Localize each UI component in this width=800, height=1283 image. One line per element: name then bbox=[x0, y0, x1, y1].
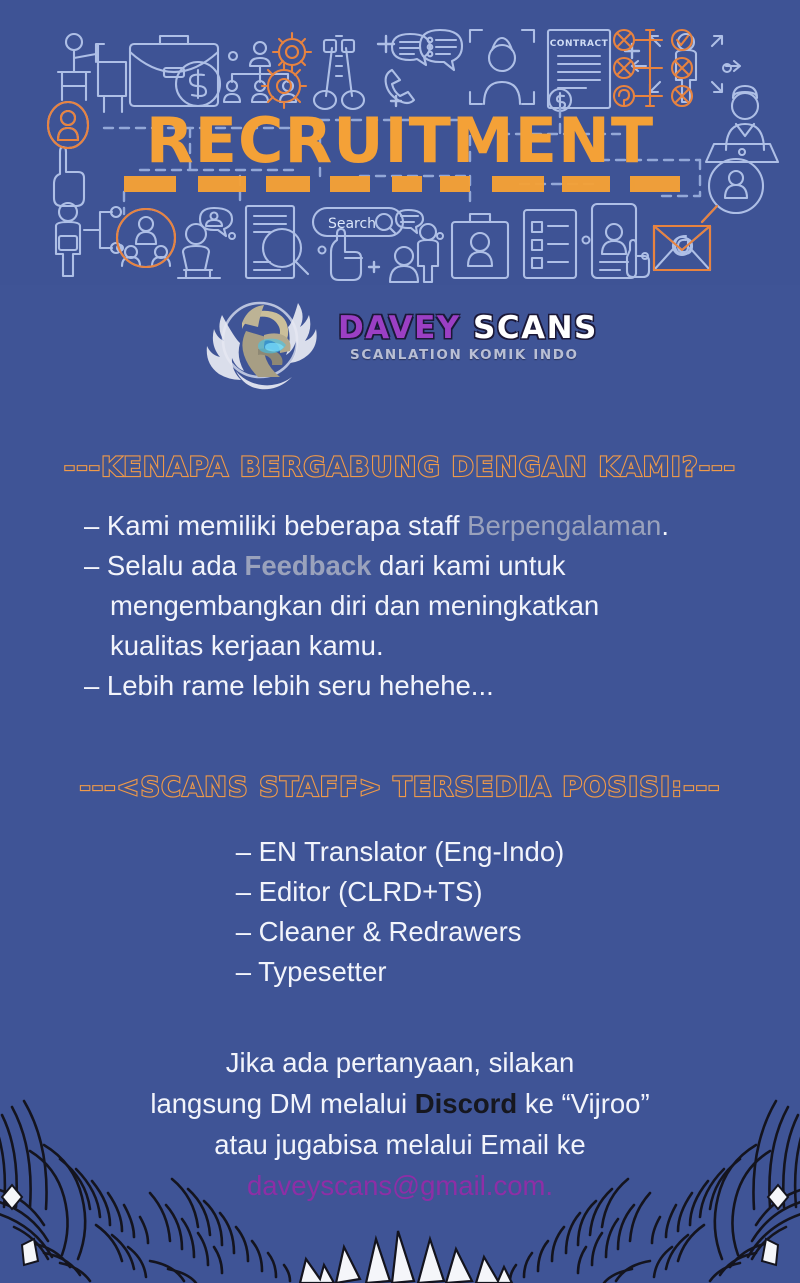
why-item-2-line2: mengembangkan diri dan meningkatkan bbox=[84, 586, 774, 626]
contact-line-1: Jika ada pertanyaan, silakan bbox=[0, 1042, 800, 1083]
why-item-1-text: – Kami memiliki beberapa staff bbox=[84, 510, 467, 541]
position-item: – Typesetter bbox=[236, 952, 565, 992]
id-card-icon bbox=[452, 214, 508, 278]
why-item-2-line3: kualitas kerjaan kamu. bbox=[84, 626, 774, 666]
person-at-desk-icon bbox=[58, 34, 126, 112]
envelope-accent-icon bbox=[654, 226, 710, 270]
why-item-3: – Lebih rame lebih seru hehehe... bbox=[84, 666, 774, 706]
position-item: – Cleaner & Redrawers bbox=[236, 912, 565, 952]
brand-logo: DAVEY SCANS SCANLATION KOMIK INDO bbox=[0, 293, 800, 393]
helmet-shape bbox=[242, 305, 291, 377]
logo-name-primary: DAVEY bbox=[338, 310, 461, 346]
manga-line-art-border bbox=[0, 1093, 800, 1283]
checklist-icon bbox=[524, 210, 576, 278]
decor-right-fan bbox=[510, 1101, 800, 1283]
spartan-helmet-emblem bbox=[202, 295, 342, 391]
bottom-decoration bbox=[0, 1093, 800, 1283]
decor-left-fan bbox=[0, 1101, 290, 1283]
why-item-1: – Kami memiliki beberapa staff Berpengal… bbox=[84, 506, 774, 546]
why-item-1-suffix: . bbox=[661, 510, 669, 541]
why-item-2-suffix: dari kami untuk bbox=[371, 550, 565, 581]
portrait-frame-icon bbox=[470, 30, 534, 104]
dollar-coin-icon bbox=[176, 62, 220, 106]
why-item-2-text: – Selalu ada bbox=[84, 550, 245, 581]
position-item: – Editor (CLRD+TS) bbox=[236, 872, 565, 912]
small-person-speech-icon bbox=[390, 210, 438, 282]
header-banner: CONTRACT Search RECRUITMENT bbox=[0, 0, 800, 285]
mobile-profile-icon bbox=[592, 204, 649, 278]
search-chip-label: Search bbox=[328, 216, 376, 232]
resume-magnifier-icon bbox=[246, 206, 308, 278]
why-item-2-line1: – Selalu ada Feedback dari kami untuk bbox=[84, 546, 774, 586]
contract-doc-label: CONTRACT bbox=[550, 39, 609, 49]
banner-title: RECRUITMENT bbox=[0, 110, 800, 172]
binoculars-icon bbox=[314, 36, 364, 109]
decor-center-spikes bbox=[300, 1231, 512, 1283]
positions-section-heading: ---<SCANS STAFF> TERSEDIA POSISI:--- bbox=[0, 772, 800, 803]
why-item-2-emphasis: Feedback bbox=[245, 550, 372, 581]
title-underbar-blocks bbox=[124, 176, 680, 192]
flowchart-check-x-icon bbox=[614, 30, 692, 106]
gears-icon bbox=[262, 33, 311, 108]
logo-tagline: SCANLATION KOMIK INDO bbox=[350, 347, 600, 363]
why-section-list: – Kami memiliki beberapa staff Berpengal… bbox=[84, 506, 774, 706]
recruitment-poster: CONTRACT Search RECRUITMENT bbox=[0, 0, 800, 1283]
magnifier-accent-icon bbox=[702, 206, 717, 222]
standing-person-icon bbox=[56, 203, 121, 276]
person-speech-icon bbox=[178, 208, 232, 278]
why-section-heading: ---KENAPA BERGABUNG DENGAN KAMI?--- bbox=[0, 452, 800, 483]
positions-section-list: – EN Translator (Eng-Indo) – Editor (CLR… bbox=[0, 832, 800, 992]
position-item: – EN Translator (Eng-Indo) bbox=[236, 832, 565, 872]
logo-name-secondary: SCANS bbox=[473, 310, 598, 346]
why-item-1-emphasis: Berpengalaman bbox=[467, 510, 661, 541]
